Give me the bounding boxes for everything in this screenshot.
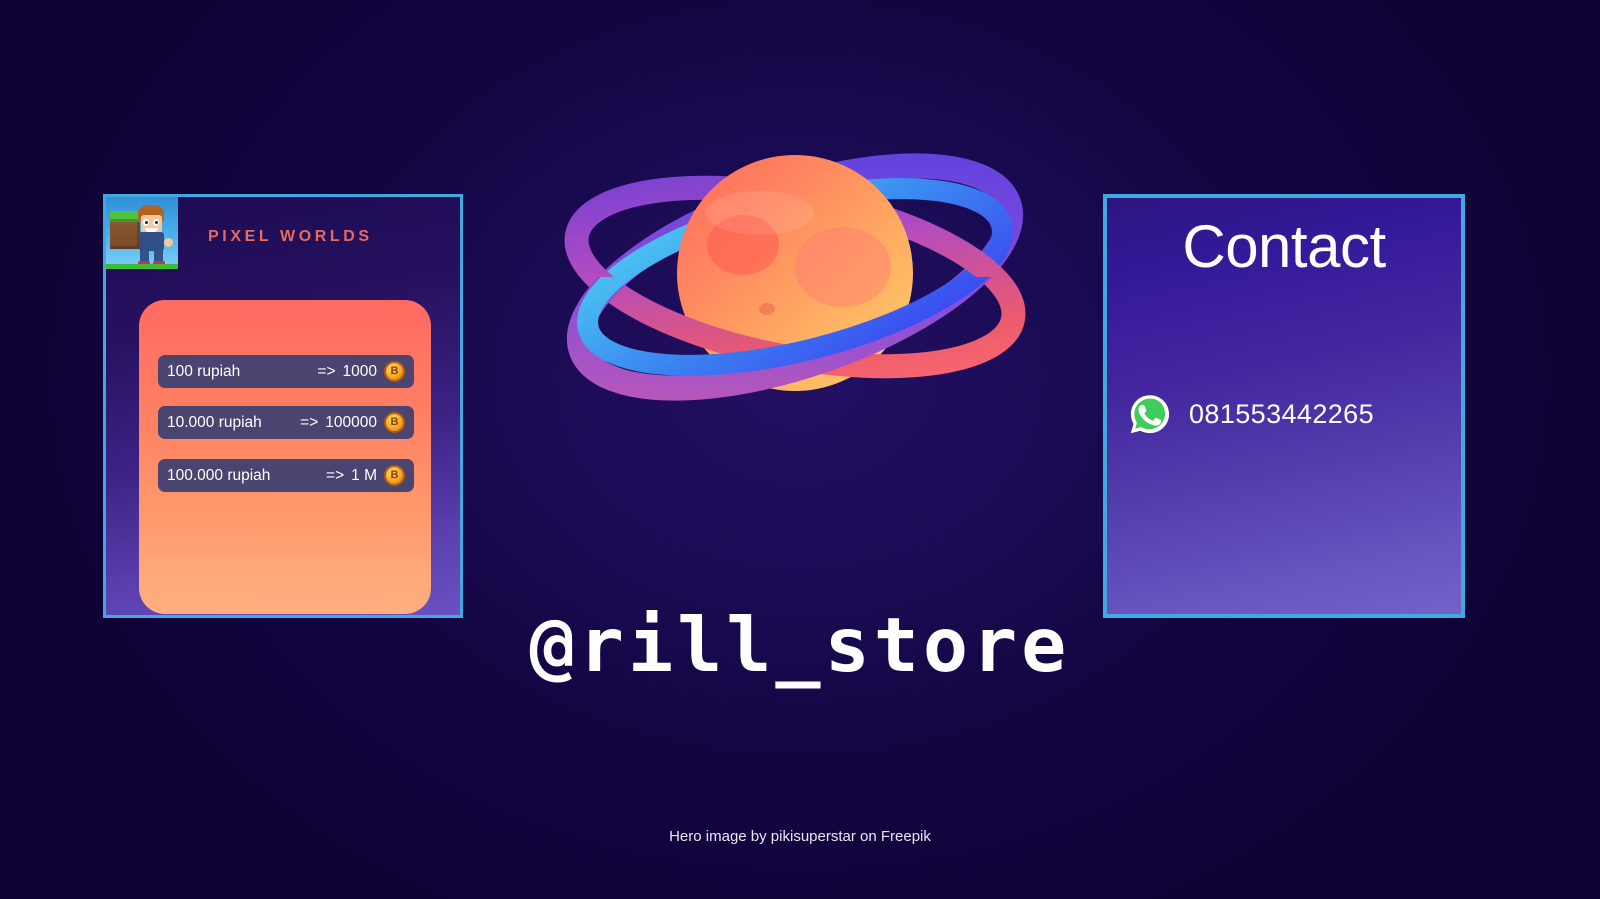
- contact-card: Contact 081553442265: [1103, 194, 1465, 618]
- hero-planet-icon: [545, 95, 1045, 455]
- gold-coin-icon: B: [384, 465, 405, 486]
- price-conversion: => 100000 B: [300, 412, 405, 433]
- gem-amount: 1 M: [351, 467, 377, 485]
- arrow-glyph: =>: [326, 467, 344, 485]
- price-conversion: => 1 M B: [326, 465, 405, 486]
- price-row[interactable]: 100 rupiah => 1000 B: [158, 355, 414, 388]
- arrow-glyph: =>: [317, 363, 335, 381]
- price-panel: 100 rupiah => 1000 B 10.000 rupiah => 10…: [139, 300, 431, 614]
- price-amount: 10.000 rupiah: [167, 414, 262, 432]
- gold-coin-icon: B: [384, 412, 405, 433]
- gem-amount: 1000: [343, 363, 377, 381]
- price-card-header: PIXEL WORLDS: [106, 197, 460, 271]
- price-conversion: => 1000 B: [317, 361, 405, 382]
- price-row[interactable]: 10.000 rupiah => 100000 B: [158, 406, 414, 439]
- page-background: PIXEL WORLDS 100 rupiah => 1000 B 10.000…: [0, 0, 1600, 899]
- gold-coin-icon: B: [384, 361, 405, 382]
- contact-heading: Contact: [1107, 214, 1461, 280]
- whatsapp-icon[interactable]: [1129, 393, 1171, 435]
- price-list-card: PIXEL WORLDS 100 rupiah => 1000 B 10.000…: [103, 194, 463, 618]
- page-title: @rill_store: [0, 608, 1600, 683]
- phone-number: 081553442265: [1189, 399, 1374, 430]
- contact-phone-row[interactable]: 081553442265: [1129, 393, 1374, 435]
- pixel-worlds-logo-icon: [106, 197, 178, 269]
- gem-amount: 100000: [325, 414, 377, 432]
- price-amount: 100.000 rupiah: [167, 467, 270, 485]
- game-title: PIXEL WORLDS: [208, 228, 373, 246]
- price-amount: 100 rupiah: [167, 363, 240, 381]
- arrow-glyph: =>: [300, 414, 318, 432]
- image-credit: Hero image by pikisuperstar on Freepik: [0, 828, 1600, 845]
- price-row[interactable]: 100.000 rupiah => 1 M B: [158, 459, 414, 492]
